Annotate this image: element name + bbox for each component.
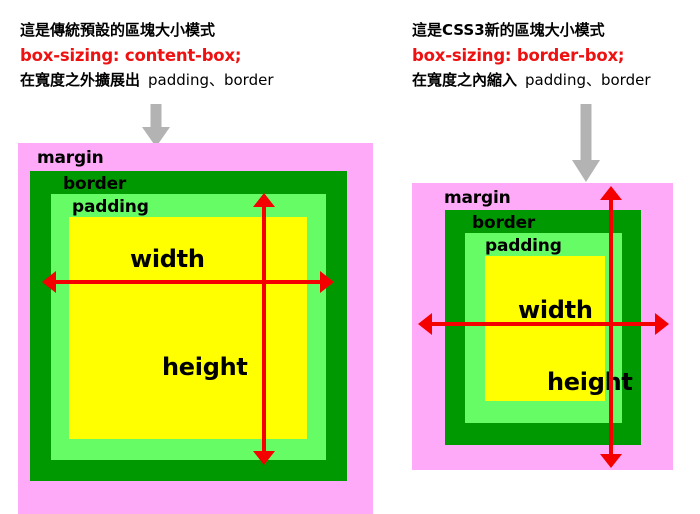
left-border-box: border padding width <box>30 171 347 481</box>
caption-right-line1: 這是CSS3新的區塊大小模式 <box>412 18 651 43</box>
left-height-arrow <box>253 193 275 465</box>
right-margin-box: margin border padding width height <box>412 183 673 470</box>
grey-down-arrow-icon-right <box>571 104 601 182</box>
arrow-shaft <box>581 104 592 162</box>
arrow-head-right <box>320 271 334 293</box>
arrow-head-right <box>655 313 669 335</box>
arrow-shaft <box>262 204 266 454</box>
left-margin-box: margin border padding width <box>18 143 373 514</box>
grey-down-arrow-icon-left <box>141 104 171 147</box>
arrow-head-bottom <box>253 451 275 465</box>
left-label-padding: padding <box>72 198 149 217</box>
caption-content-box: 這是傳統預設的區塊大小模式 box-sizing: content-box; 在… <box>20 18 274 93</box>
arrow-shaft <box>609 197 613 457</box>
caption-left-line3: 在寬度之外擴展出padding、border <box>20 68 274 93</box>
right-label-margin: margin <box>444 189 510 208</box>
caption-border-box: 這是CSS3新的區塊大小模式 box-sizing: border-box; 在… <box>412 18 651 93</box>
arrow-shaft <box>429 322 658 326</box>
caption-right-line3-latin: padding、border <box>517 71 650 89</box>
left-width-label: width <box>130 246 205 272</box>
caption-left-line1: 這是傳統預設的區塊大小模式 <box>20 18 274 43</box>
caption-right-line3-prefix: 在寬度之內縮入 <box>412 71 517 89</box>
arrow-head <box>572 160 600 182</box>
left-padding-box: padding width height <box>51 194 326 460</box>
left-content-box: width height <box>69 217 307 439</box>
diagram-canvas: 這是傳統預設的區塊大小模式 box-sizing: content-box; 在… <box>0 0 700 514</box>
caption-left-line3-prefix: 在寬度之外擴展出 <box>20 71 140 89</box>
caption-right-line3: 在寬度之內縮入padding、border <box>412 68 651 93</box>
caption-left-line3-latin: padding、border <box>140 71 273 89</box>
arrow-head-bottom <box>600 454 622 468</box>
left-label-margin: margin <box>37 149 103 168</box>
arrow-shaft <box>53 280 323 284</box>
left-width-arrow <box>42 271 334 293</box>
caption-right-code: box-sizing: border-box; <box>412 43 651 68</box>
right-label-padding: padding <box>485 237 562 256</box>
caption-left-code: box-sizing: content-box; <box>20 43 274 68</box>
right-label-border: border <box>472 214 535 233</box>
left-label-border: border <box>63 175 126 194</box>
right-height-arrow <box>600 186 622 468</box>
right-width-arrow <box>418 313 669 335</box>
left-height-label: height <box>162 354 248 380</box>
